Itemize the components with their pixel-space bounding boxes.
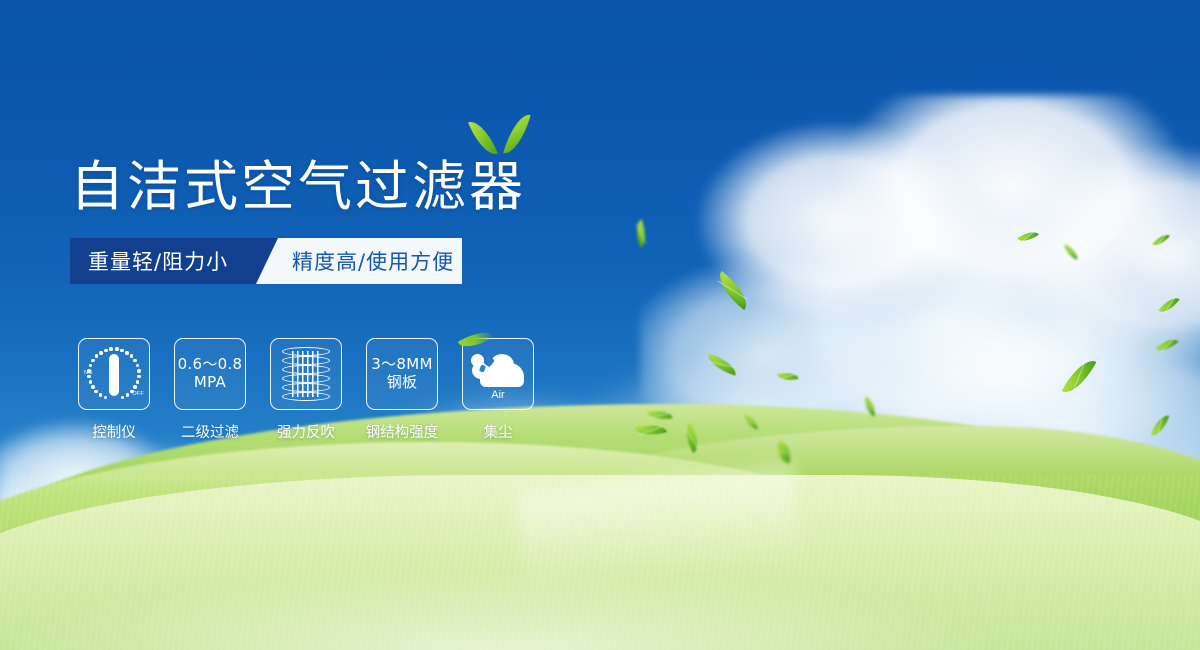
feature-icon-box: Air	[462, 338, 534, 410]
feature-icon-box: 0.6～0.8 MPA	[174, 338, 246, 410]
floating-leaf-icon	[1061, 244, 1081, 260]
gauge-tick	[99, 393, 103, 397]
gauge-tick	[137, 369, 141, 373]
feature-item-backblow[interactable]: 强力反吹	[270, 338, 342, 442]
gauge-tick	[91, 359, 95, 363]
feature-icon-box: 3～8MM 钢板	[366, 338, 438, 410]
floating-leaf-icon	[1152, 231, 1170, 250]
gauge-tick	[95, 354, 99, 358]
floating-leaf-icon	[1062, 354, 1097, 399]
gauge-tick	[136, 380, 140, 384]
feature-item-controller[interactable]: NO OFF 控制仪	[78, 338, 150, 442]
gauge-tick	[87, 375, 91, 379]
gauge-tick	[120, 349, 124, 353]
gauge-tick	[99, 351, 103, 355]
feature-label: 集尘	[450, 421, 546, 442]
subtitle-right-text: 精度高/使用方便	[292, 238, 454, 284]
gauge-tick	[121, 396, 125, 400]
feature-label: 二级过滤	[174, 421, 246, 442]
gauge-tick	[109, 347, 113, 351]
subtitle-bar: 重量轻/阻力小 精度高/使用方便	[70, 238, 462, 284]
feature-icon-box	[270, 338, 342, 410]
feature-label: 控制仪	[78, 421, 150, 442]
gauge-tick	[104, 349, 108, 353]
steel-value-line2: 钢板	[371, 374, 432, 392]
gauge-tick	[104, 396, 108, 400]
gauge-tick	[126, 393, 130, 397]
steel-plate-text-icon: 3～8MM 钢板	[371, 356, 432, 391]
gauge-tick	[137, 375, 141, 379]
pressure-text-icon: 0.6～0.8 MPA	[178, 356, 243, 391]
gauge-tick	[136, 364, 140, 368]
gauge-tick	[115, 347, 119, 351]
product-banner: 自洁式空气过滤器 重量轻/阻力小 精度高/使用方便 NO OFF 控制仪 0.6…	[0, 0, 1200, 650]
steel-value-line1: 3～8MM	[371, 356, 432, 374]
feature-item-dust-collection[interactable]: Air 集尘	[462, 338, 534, 442]
gauge-tick	[89, 380, 93, 384]
floating-leaf-icon	[1017, 227, 1039, 246]
pressure-value-line1: 0.6～0.8	[178, 356, 243, 374]
page-title: 自洁式空气过滤器	[70, 142, 526, 221]
gauge-tick	[133, 359, 137, 363]
subtitle-left-text: 重量轻/阻力小	[88, 238, 228, 284]
floating-leaf-icon	[1158, 293, 1179, 316]
feature-icon-box: NO OFF	[78, 338, 150, 410]
gauge-icon: NO OFF	[83, 343, 145, 405]
feature-item-secondary-filter[interactable]: 0.6～0.8 MPA 二级过滤	[174, 338, 246, 442]
pressure-value-line2: MPA	[178, 374, 243, 392]
gauge-tick	[133, 385, 137, 389]
floating-leaf-icon	[777, 370, 798, 383]
feature-label: 钢结构强度	[354, 421, 450, 442]
floating-leaf-icon	[631, 219, 650, 247]
feature-item-steel-strength[interactable]: 3～8MM 钢板 钢结构强度	[366, 338, 438, 442]
gauge-tick	[91, 385, 95, 389]
floating-leaf-icon	[1155, 334, 1178, 356]
air-cloud-icon: Air	[470, 349, 526, 399]
gauge-tick	[94, 390, 98, 394]
floating-leaf-icon	[1151, 412, 1170, 438]
floating-leaf-icon	[711, 271, 755, 310]
gauge-tick	[87, 369, 91, 373]
gauge-tick	[130, 390, 134, 394]
air-label: Air	[470, 389, 526, 401]
gauge-label-off: OFF	[132, 391, 144, 397]
floating-leaf-icon	[705, 353, 739, 375]
gauge-tick	[125, 351, 129, 355]
feature-label: 强力反吹	[270, 421, 342, 442]
gauge-tick	[89, 364, 93, 368]
gauge-needle	[109, 354, 119, 396]
feature-list: NO OFF 控制仪 0.6～0.8 MPA 二级过滤	[78, 338, 534, 442]
filter-coil-icon	[282, 347, 330, 401]
gauge-tick	[130, 354, 134, 358]
